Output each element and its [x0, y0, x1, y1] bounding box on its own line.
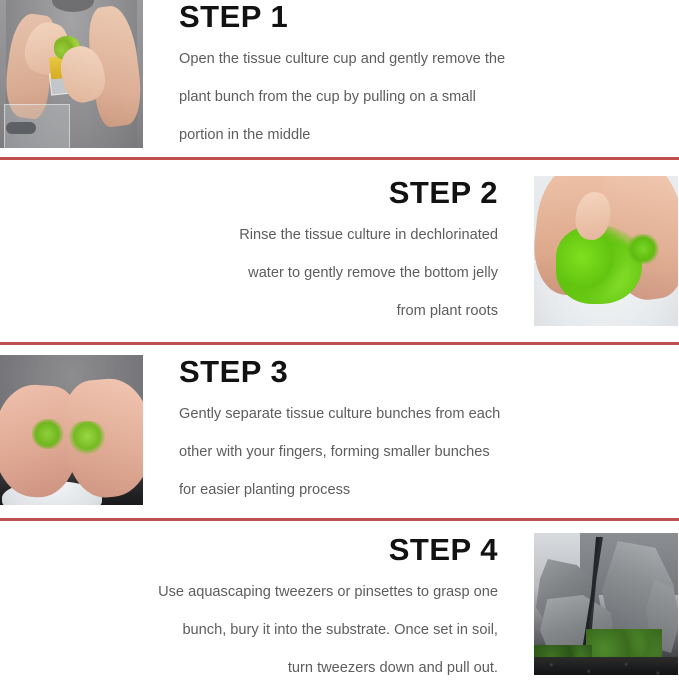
step-2-text-block: STEP 2 Rinse the tissue culture in dechl… — [40, 176, 498, 330]
green-plant-shape-2 — [626, 234, 660, 264]
step-3-body-line-1: Gently separate tissue culture bunches f… — [179, 395, 639, 433]
step-4-body: Use aquascaping tweezers or pinsettes to… — [40, 567, 498, 687]
step-3-body: Gently separate tissue culture bunches f… — [179, 389, 639, 509]
step-3-text-block: STEP 3 Gently separate tissue culture bu… — [179, 355, 639, 509]
step-row-4: STEP 4 Use aquascaping tweezers or pinse… — [0, 533, 679, 675]
step-4-image — [534, 533, 678, 675]
step-3-image — [0, 355, 143, 505]
step-2-body: Rinse the tissue culture in dechlorinate… — [40, 210, 498, 330]
step-4-body-line-3: turn tweezers down and pull out. — [40, 649, 498, 687]
step-1-image — [0, 0, 143, 148]
step-1-title: STEP 1 — [179, 0, 639, 34]
step-4-body-line-1: Use aquascaping tweezers or pinsettes to… — [40, 573, 498, 611]
divider-1 — [0, 157, 679, 160]
step-3-body-line-2: other with your fingers, forming smaller… — [179, 433, 639, 471]
divider-3 — [0, 518, 679, 521]
step-2-body-line-2: water to gently remove the bottom jelly — [40, 254, 498, 292]
step-1-body-line-3: portion in the middle — [179, 116, 639, 154]
substrate-soil-shape — [534, 657, 678, 675]
step-3-body-line-3: for easier planting process — [179, 471, 639, 509]
step-1-body-line-1: Open the tissue culture cup and gently r… — [179, 40, 639, 78]
steps-infographic: STEP 1 Open the tissue culture cup and g… — [0, 0, 679, 683]
step-1-body: Open the tissue culture cup and gently r… — [179, 34, 639, 154]
step-2-image — [534, 176, 678, 326]
step-4-body-line-2: bunch, bury it into the substrate. Once … — [40, 611, 498, 649]
step-4-title: STEP 4 — [40, 533, 498, 567]
step-3-title: STEP 3 — [179, 355, 639, 389]
step-2-title: STEP 2 — [40, 176, 498, 210]
step-2-body-line-1: Rinse the tissue culture in dechlorinate… — [40, 216, 498, 254]
step-4-text-block: STEP 4 Use aquascaping tweezers or pinse… — [40, 533, 498, 687]
step-row-2: STEP 2 Rinse the tissue culture in dechl… — [0, 176, 679, 326]
step-row-3: STEP 3 Gently separate tissue culture bu… — [0, 355, 679, 505]
step-2-body-line-3: from plant roots — [40, 292, 498, 330]
background-object-shape — [6, 122, 36, 134]
step-row-1: STEP 1 Open the tissue culture cup and g… — [0, 0, 679, 148]
green-plant-shape-left — [32, 419, 66, 449]
step-1-body-line-2: plant bunch from the cup by pulling on a… — [179, 78, 639, 116]
step-1-text-block: STEP 1 Open the tissue culture cup and g… — [179, 0, 639, 154]
green-plant-shape-right — [68, 421, 106, 455]
divider-2 — [0, 342, 679, 345]
